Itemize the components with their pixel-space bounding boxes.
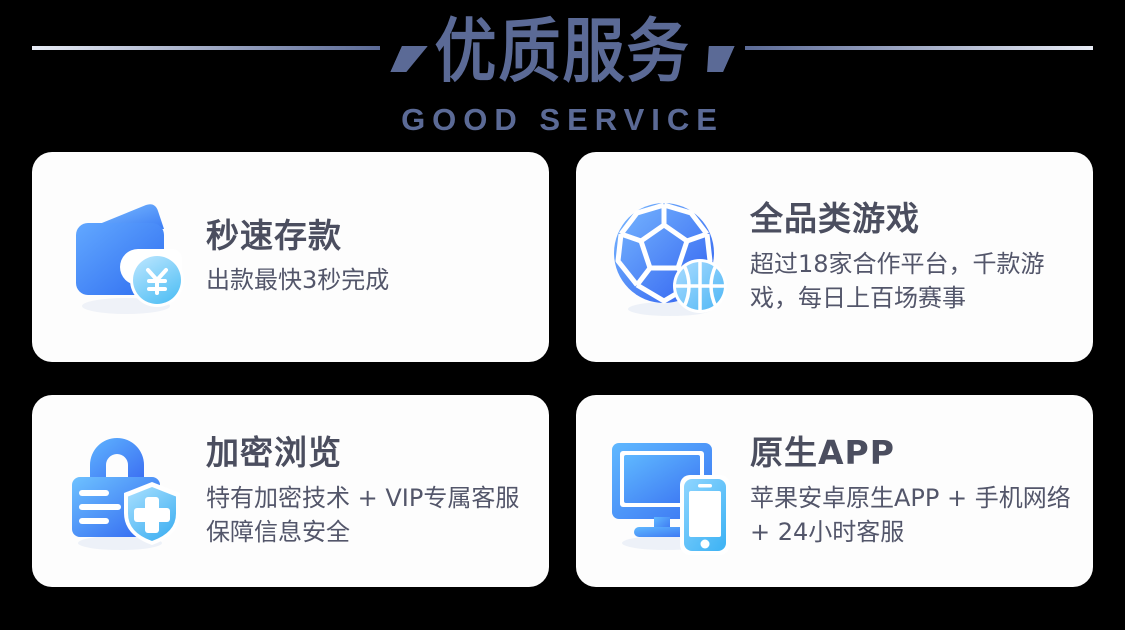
card-title: 秒速存款 — [206, 216, 541, 256]
card-title: 原生APP — [750, 433, 1085, 473]
wallet-yen-icon — [60, 191, 192, 323]
card-description: 出款最快3秒完成 — [206, 263, 541, 298]
lock-shield-icon — [60, 425, 192, 557]
card-description: 苹果安卓原生APP + 手机网络 + 24小时客服 — [750, 481, 1085, 549]
service-card-grid: 秒速存款 出款最快3秒完成 — [32, 152, 1093, 587]
card-title: 全品类游戏 — [750, 199, 1085, 239]
card-title: 加密浏览 — [206, 433, 541, 473]
header-text-block: 优质服务 GOOD SERVICE — [0, 0, 1125, 138]
page-title: 优质服务 — [434, 8, 690, 95]
card-text-block: 秒速存款 出款最快3秒完成 — [206, 216, 549, 298]
service-card-native-app[interactable]: 原生APP 苹果安卓原生APP + 手机网络 + 24小时客服 — [576, 395, 1093, 587]
service-card-all-category-games[interactable]: 全品类游戏 超过18家合作平台，千款游戏，每日上百场赛事 — [576, 152, 1093, 362]
card-description: 特有加密技术 + VIP专属客服保障信息安全 — [206, 481, 541, 549]
soccer-basketball-icon — [604, 191, 736, 323]
card-description: 超过18家合作平台，千款游戏，每日上百场赛事 — [750, 247, 1085, 315]
card-text-block: 全品类游戏 超过18家合作平台，千款游戏，每日上百场赛事 — [750, 199, 1093, 315]
service-card-instant-deposit[interactable]: 秒速存款 出款最快3秒完成 — [32, 152, 549, 362]
card-text-block: 加密浏览 特有加密技术 + VIP专属客服保障信息安全 — [206, 433, 549, 549]
card-text-block: 原生APP 苹果安卓原生APP + 手机网络 + 24小时客服 — [750, 433, 1093, 549]
page-header: 优质服务 GOOD SERVICE — [0, 0, 1125, 150]
service-card-encrypted-browsing[interactable]: 加密浏览 特有加密技术 + VIP专属客服保障信息安全 — [32, 395, 549, 587]
monitor-phone-icon — [604, 425, 736, 557]
page-subtitle: GOOD SERVICE — [401, 102, 724, 138]
